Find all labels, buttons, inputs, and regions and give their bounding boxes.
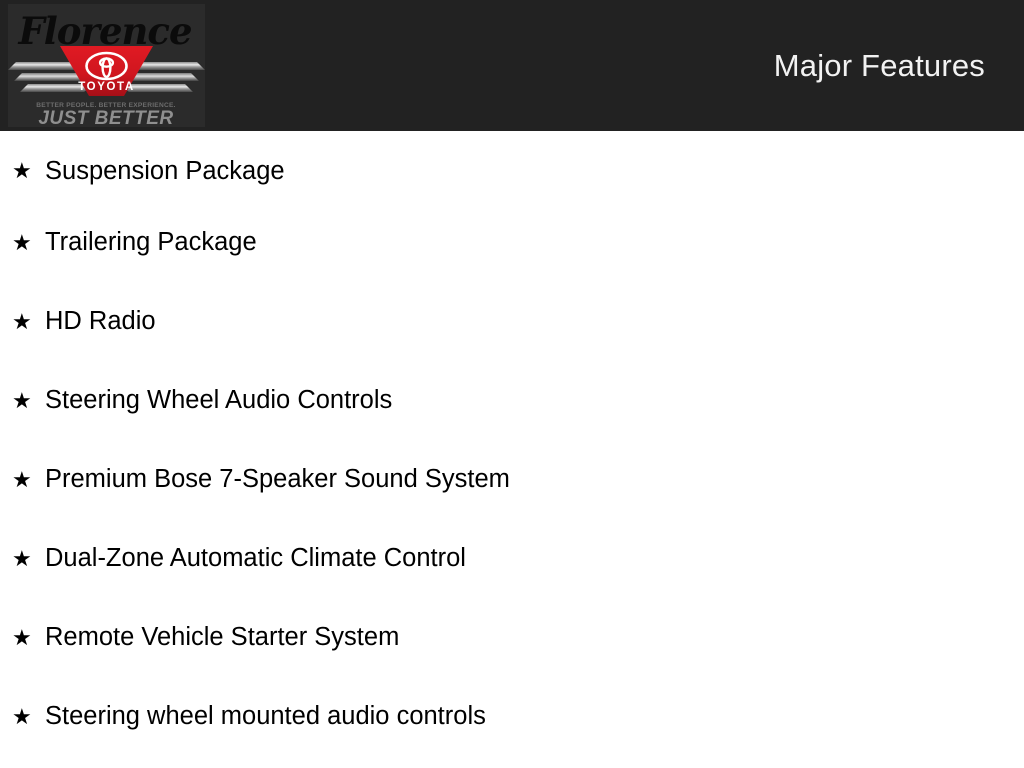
feature-label: Premium Bose 7-Speaker Sound System	[45, 465, 510, 493]
feature-label: Trailering Package	[45, 228, 257, 256]
star-icon: ★	[12, 469, 45, 491]
star-icon: ★	[12, 706, 45, 728]
feature-label: Steering Wheel Audio Controls	[45, 386, 392, 414]
page-title: Major Features	[774, 0, 985, 131]
star-icon: ★	[12, 232, 45, 254]
dealer-logo-icon: TOYOTA Florence BETTER PEOPLE. BETTER EX…	[8, 4, 205, 127]
feature-label: Steering wheel mounted audio controls	[45, 702, 486, 730]
major-features-list: ★ Suspension Package ★ Trailering Packag…	[0, 131, 1024, 768]
star-icon: ★	[12, 627, 45, 649]
feature-label: Remote Vehicle Starter System	[45, 623, 399, 651]
page-header: TOYOTA Florence BETTER PEOPLE. BETTER EX…	[0, 0, 1024, 131]
list-item: ★ Steering wheel mounted audio controls	[0, 677, 1024, 756]
feature-label: HD Radio	[45, 307, 156, 335]
list-item: ★ Suspension Package	[0, 131, 1024, 203]
svg-text:Florence: Florence	[17, 9, 191, 53]
star-icon: ★	[12, 311, 45, 333]
list-item: ★ Trailering Package	[0, 203, 1024, 282]
feature-label: Dual-Zone Automatic Climate Control	[45, 544, 466, 572]
feature-label: Suspension Package	[45, 157, 285, 185]
star-icon: ★	[12, 160, 45, 182]
list-item: ★ Steering Wheel Audio Controls	[0, 361, 1024, 440]
star-icon: ★	[12, 390, 45, 412]
list-item: ★ Remote Vehicle Starter System	[0, 598, 1024, 677]
svg-text:JUST BETTER: JUST BETTER	[38, 108, 173, 127]
star-icon: ★	[12, 548, 45, 570]
list-item: ★ HD Radio	[0, 282, 1024, 361]
svg-text:TOYOTA: TOYOTA	[78, 81, 134, 93]
dealer-logo[interactable]: TOYOTA Florence BETTER PEOPLE. BETTER EX…	[8, 4, 205, 127]
list-item: ★ Premium Bose 7-Speaker Sound System	[0, 440, 1024, 519]
list-item: ★ Dual-Zone Automatic Climate Control	[0, 519, 1024, 598]
